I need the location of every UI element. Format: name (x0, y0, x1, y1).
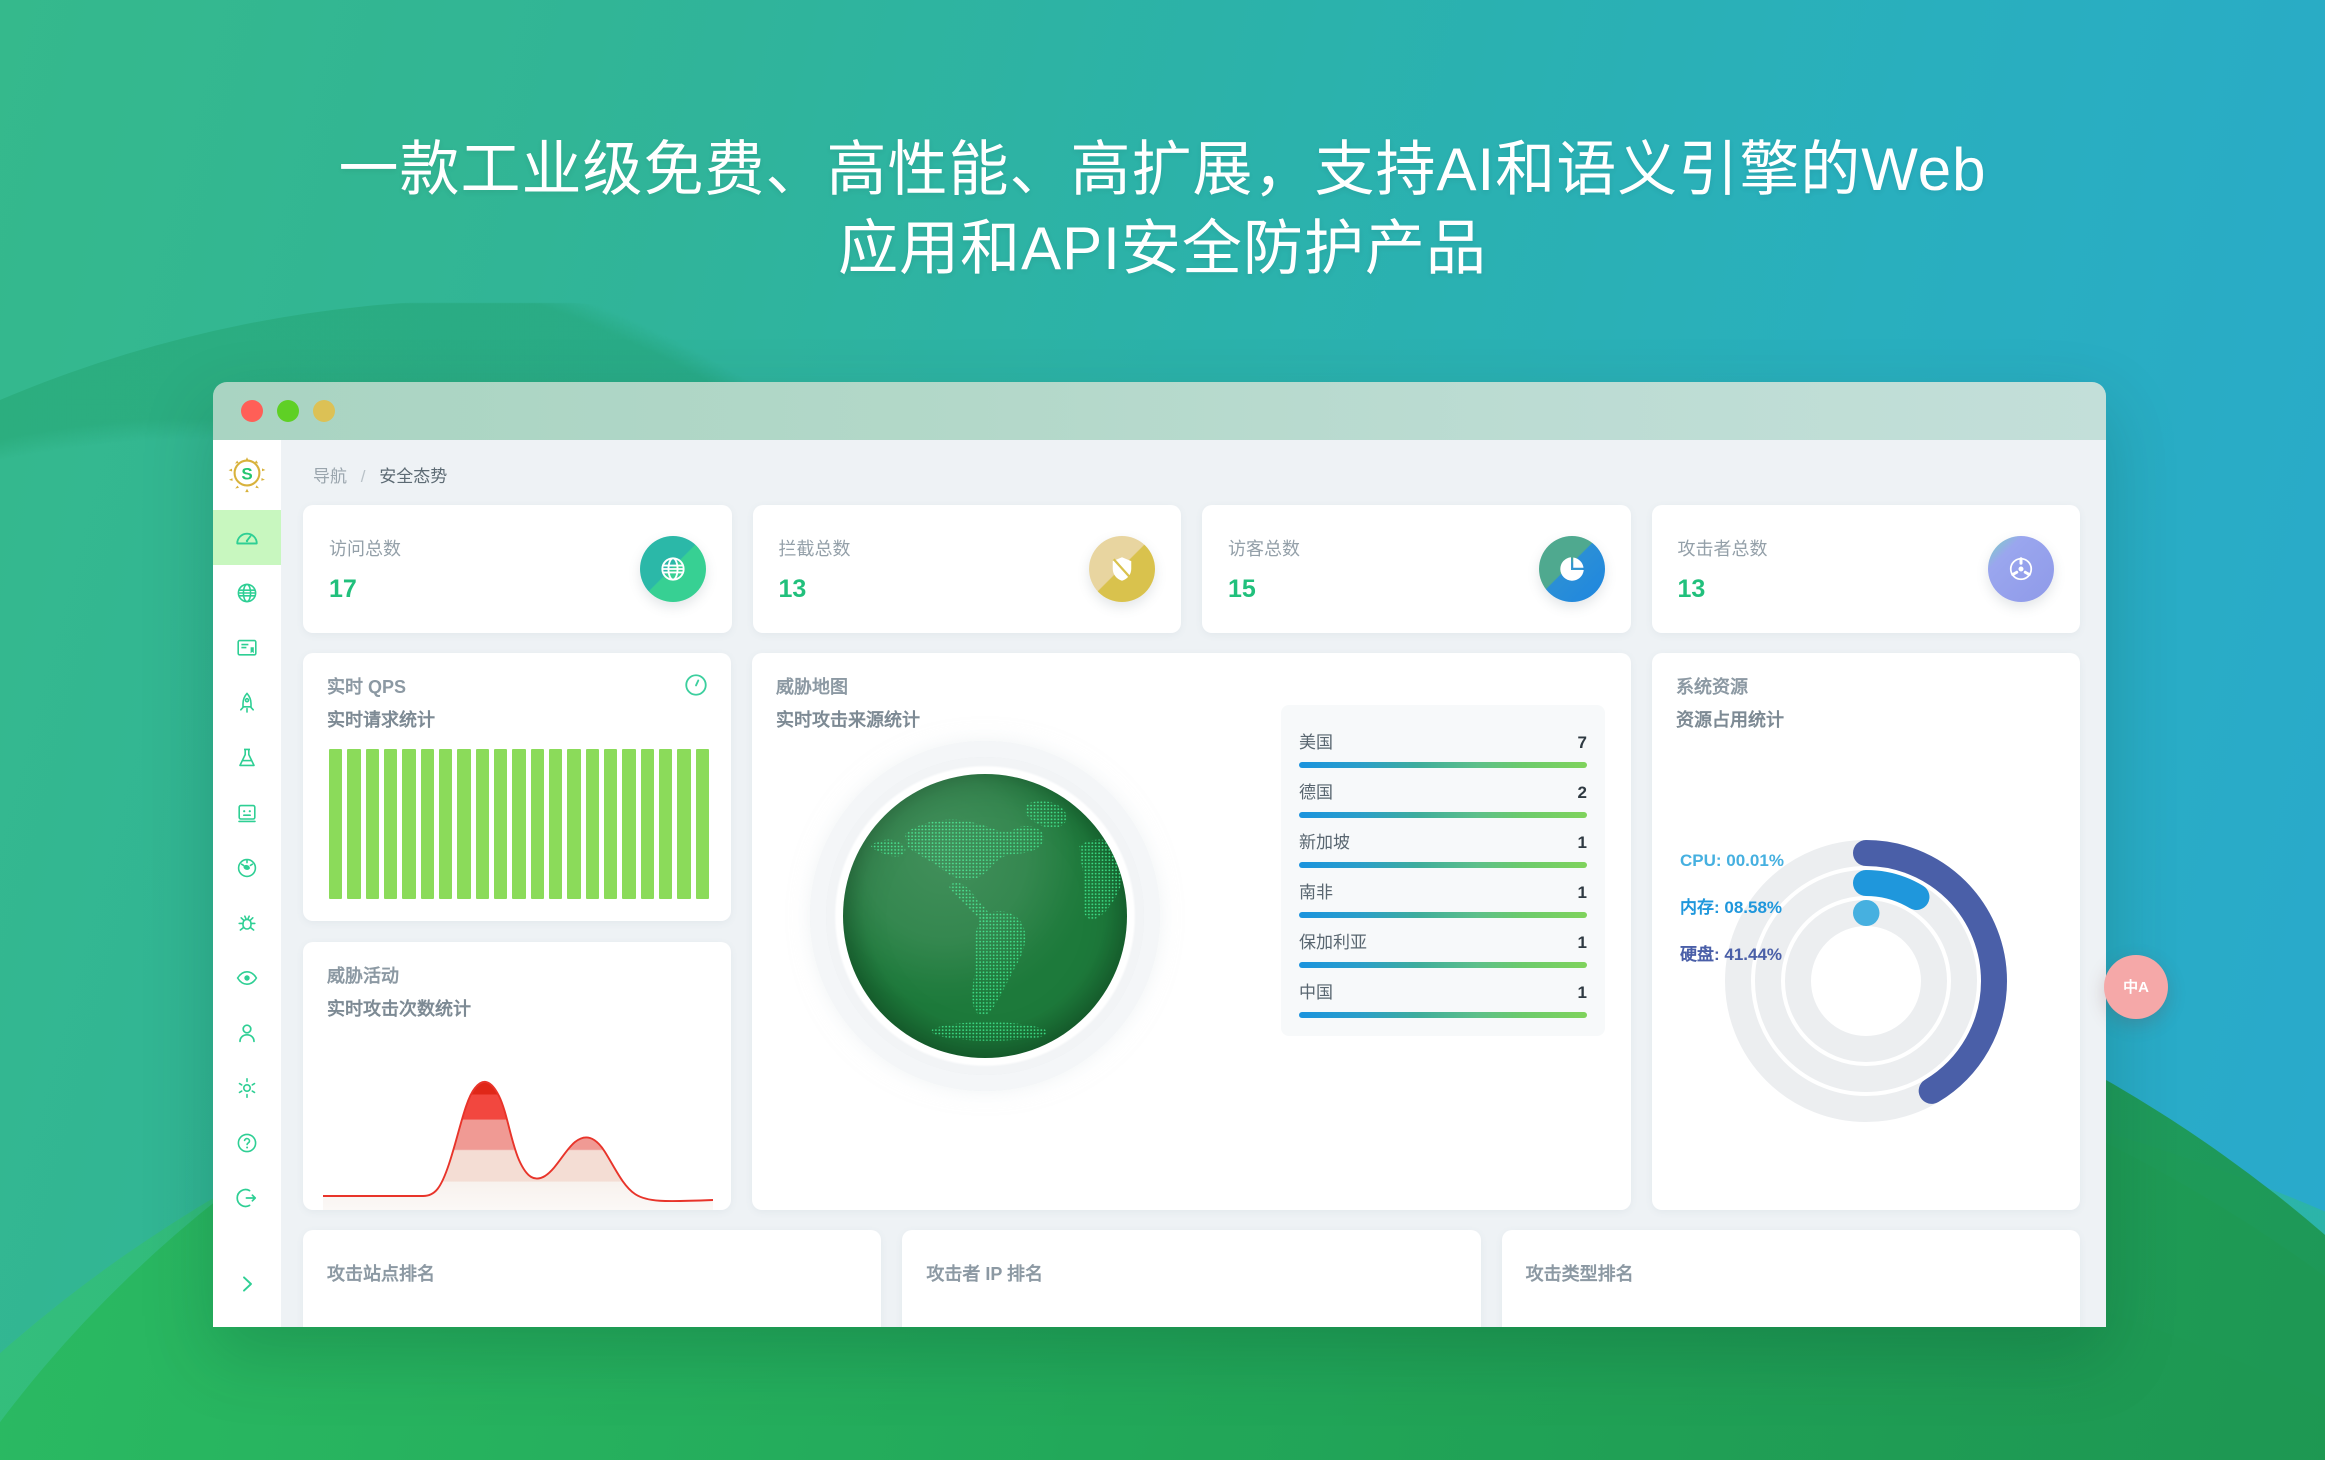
rocket-icon (235, 691, 259, 715)
country-attack-count: 1 (1578, 933, 1587, 953)
sidebar-item-dashboard[interactable] (213, 510, 281, 565)
country-attack-count: 1 (1578, 983, 1587, 1003)
flask-icon (235, 746, 259, 770)
panel-title: 系统资源 (1676, 673, 2056, 699)
threat-activity-area-chart (323, 1038, 713, 1210)
sidebar-item-plugins[interactable] (213, 840, 281, 895)
stat-card-total-visits[interactable]: 访问总数 17 (303, 505, 732, 633)
certificate-icon (235, 636, 259, 660)
logo-icon: S (225, 451, 269, 495)
plugin-icon (235, 856, 259, 880)
robot-icon (235, 801, 259, 825)
qps-bar (329, 749, 342, 899)
system-resource-labels: CPU: 00.01% 内存: 08.58% 硬盘: 41.44% (1680, 851, 1784, 987)
stat-label: 攻击者总数 (1678, 535, 1768, 561)
stat-card-total-blocked[interactable]: 拦截总数 13 (753, 505, 1182, 633)
country-attack-count: 2 (1578, 783, 1587, 803)
country-name: 保加利亚 (1299, 928, 1367, 953)
stat-card-total-attackers[interactable]: 攻击者总数 13 (1652, 505, 2081, 633)
radiation-icon (1988, 536, 2054, 602)
breadcrumb: 导航 / 安全态势 (303, 440, 2080, 505)
globe-dots (843, 774, 1127, 1058)
clock-gauge-icon[interactable] (683, 672, 709, 703)
qps-bar (384, 749, 397, 899)
hero-headline-line1: 一款工业级免费、高性能、高扩展，支持AI和语义引擎的Web (339, 136, 1987, 203)
panel-attacker-ip-ranking: 攻击者 IP 排名 (902, 1230, 1480, 1327)
question-icon (235, 1131, 259, 1155)
panel-attacked-sites-ranking: 攻击站点排名 (303, 1230, 881, 1327)
country-row[interactable]: 南非1 (1299, 868, 1587, 918)
translate-badge[interactable]: 中A (2104, 955, 2168, 1019)
country-row[interactable]: 德国2 (1299, 768, 1587, 818)
qps-bar (512, 749, 525, 899)
stat-value: 13 (1678, 575, 1768, 604)
middle-panel-row: 实时 QPS 实时请求统计 (303, 653, 2080, 1210)
sidebar-item-help[interactable] (213, 1115, 281, 1170)
country-row[interactable]: 美国7 (1299, 718, 1587, 768)
bug-icon (235, 911, 259, 935)
panel-threat-map: 威胁地图 实时攻击来源统计 (752, 653, 1631, 1210)
stat-value: 15 (1228, 575, 1300, 604)
qps-bar (494, 749, 507, 899)
cpu-usage-label: CPU: 00.01% (1680, 851, 1784, 871)
country-attack-count: 1 (1578, 883, 1587, 903)
sidebar-item-sites[interactable] (213, 565, 281, 620)
shield-icon (1089, 536, 1155, 602)
breadcrumb-current: 安全态势 (379, 467, 447, 486)
qps-bar (402, 749, 415, 899)
eye-icon (235, 966, 259, 990)
panel-subtitle: 资源占用统计 (1676, 706, 2056, 732)
panel-subtitle: 实时攻击次数统计 (327, 995, 707, 1021)
panel-title: 攻击者 IP 排名 (926, 1260, 1456, 1286)
sidebar-item-users[interactable] (213, 1005, 281, 1060)
main-content: 导航 / 安全态势 访问总数 17 (281, 440, 2106, 1327)
sidebar-item-settings[interactable] (213, 1060, 281, 1115)
panel-subtitle (1526, 1293, 2056, 1314)
qps-bar (567, 749, 580, 899)
sidebar-item-acceleration[interactable] (213, 675, 281, 730)
country-name: 南非 (1299, 878, 1333, 903)
qps-bar (641, 749, 654, 899)
globe-visualization[interactable] (843, 774, 1127, 1058)
stat-card-total-guests[interactable]: 访客总数 15 (1202, 505, 1631, 633)
attack-source-country-list: 美国7德国2新加坡1南非1保加利亚1中国1 (1281, 705, 1605, 1036)
qps-bar (604, 749, 617, 899)
qps-bar (622, 749, 635, 899)
country-row[interactable]: 保加利亚1 (1299, 918, 1587, 968)
hero-headline: 一款工业级免费、高性能、高扩展，支持AI和语义引擎的Web 应用和API安全防护… (0, 130, 2325, 288)
svg-text:S: S (241, 465, 252, 484)
stat-card-row: 访问总数 17 拦截总数 13 (303, 505, 2080, 633)
bottom-panel-row: 攻击站点排名 攻击者 IP 排名 攻击类型排名 (303, 1230, 2080, 1327)
country-name: 美国 (1299, 728, 1333, 753)
qps-bar-chart (329, 749, 709, 899)
sidebar-item-logout[interactable] (213, 1170, 281, 1225)
country-name: 德国 (1299, 778, 1333, 803)
panel-title: 威胁活动 (327, 962, 707, 988)
qps-bar (586, 749, 599, 899)
sidebar-item-certificates[interactable] (213, 620, 281, 675)
sidebar-item-ai-engine[interactable] (213, 785, 281, 840)
sidebar-item-monitor[interactable] (213, 950, 281, 1005)
stat-label: 访客总数 (1228, 535, 1300, 561)
qps-bar (659, 749, 672, 899)
memory-usage-label: 内存: 08.58% (1680, 893, 1784, 918)
stat-value: 17 (329, 575, 401, 604)
chevron-right-icon (235, 1272, 259, 1296)
window-close-button[interactable] (241, 400, 263, 422)
app-logo[interactable]: S (224, 450, 270, 496)
qps-bar (549, 749, 562, 899)
pie-chart-icon (1539, 536, 1605, 602)
logout-icon (235, 1186, 259, 1210)
qps-bar (439, 749, 452, 899)
qps-bar (366, 749, 379, 899)
panel-threat-activity: 威胁活动 实时攻击次数统计 (303, 942, 731, 1210)
user-icon (235, 1021, 259, 1045)
qps-bar (457, 749, 470, 899)
threat-map-visualization: 美国7德国2新加坡1南非1保加利亚1中国1 (752, 653, 1631, 1210)
country-bar (1299, 1012, 1587, 1018)
app-window: S (213, 382, 2106, 1327)
country-row[interactable]: 新加坡1 (1299, 818, 1587, 868)
window-minimize-button[interactable] (277, 400, 299, 422)
stat-label: 访问总数 (329, 535, 401, 561)
breadcrumb-separator: / (361, 467, 366, 486)
country-row[interactable]: 中国1 (1299, 968, 1587, 1018)
sidebar-expand-button[interactable] (213, 1256, 281, 1311)
qps-bar (696, 749, 709, 899)
hero-headline-line2: 应用和API安全防护产品 (0, 209, 2325, 288)
panel-realtime-qps: 实时 QPS 实时请求统计 (303, 653, 731, 921)
panel-system-resources: 系统资源 资源占用统计 (1652, 653, 2080, 1210)
sidebar-item-threats[interactable] (213, 895, 281, 950)
country-attack-count: 7 (1578, 733, 1587, 753)
panel-subtitle: 实时请求统计 (327, 706, 707, 732)
stat-value: 13 (779, 575, 851, 604)
sidebar-item-lab[interactable] (213, 730, 281, 785)
panel-subtitle (926, 1293, 1456, 1314)
panel-attack-type-ranking: 攻击类型排名 (1502, 1230, 2080, 1327)
panel-title: 攻击站点排名 (327, 1260, 857, 1286)
window-titlebar (213, 382, 2106, 440)
stat-label: 拦截总数 (779, 535, 851, 561)
globe-icon (235, 581, 259, 605)
panel-subtitle (327, 1293, 857, 1314)
qps-bar (421, 749, 434, 899)
panel-title: 攻击类型排名 (1526, 1260, 2056, 1286)
qps-bar (531, 749, 544, 899)
globe-icon (640, 536, 706, 602)
disk-usage-label: 硬盘: 41.44% (1680, 940, 1784, 965)
country-name: 新加坡 (1299, 828, 1350, 853)
sidebar: S (213, 440, 281, 1327)
translate-badge-label: 中A (2123, 980, 2149, 995)
qps-bar (347, 749, 360, 899)
window-maximize-button[interactable] (313, 400, 335, 422)
qps-bar (677, 749, 690, 899)
qps-bar (476, 749, 489, 899)
country-attack-count: 1 (1578, 833, 1587, 853)
country-name: 中国 (1299, 978, 1333, 1003)
gauge-icon (234, 525, 260, 551)
breadcrumb-root[interactable]: 导航 (313, 467, 347, 486)
gear-icon (235, 1076, 259, 1100)
panel-title: 实时 QPS (327, 673, 707, 699)
